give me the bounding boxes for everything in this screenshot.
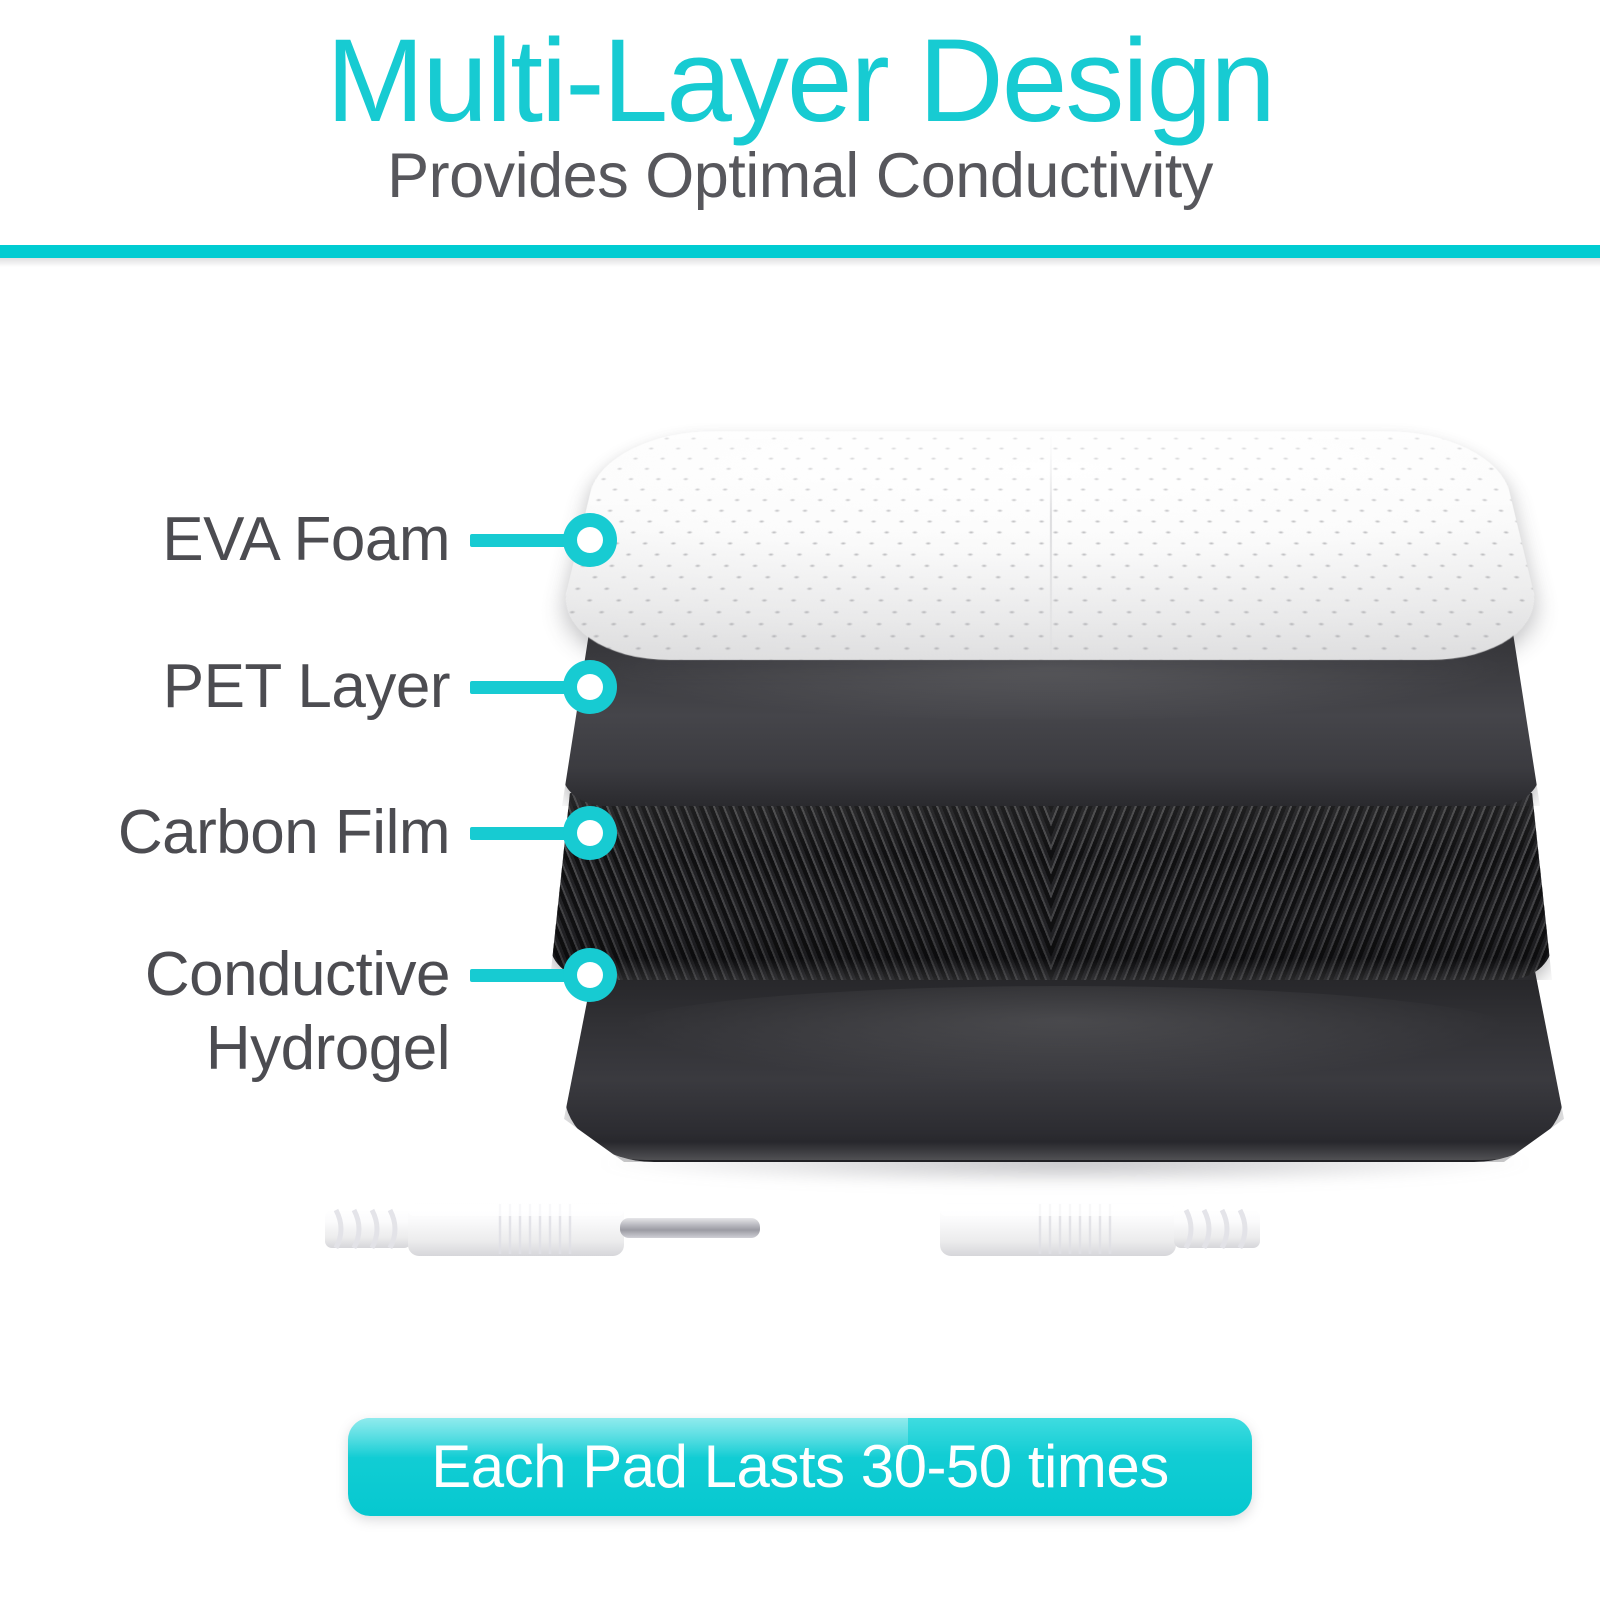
- callout-label-pet-layer: PET Layer: [60, 650, 450, 724]
- page-title: Multi-Layer Design: [0, 20, 1600, 144]
- bottom-banner: Each Pad Lasts 30-50 times: [348, 1418, 1252, 1516]
- hydrogel-highlight: [614, 986, 1514, 1084]
- leader-dot-carbon-film[interactable]: [563, 806, 617, 860]
- pad-stack-illustration: [520, 340, 1600, 1120]
- callout-label-conductive-hydrogel: Conductive Hydrogel: [40, 938, 450, 1086]
- layer-eva-foam: [550, 431, 1550, 660]
- leader-dot-eva-foam[interactable]: [563, 513, 617, 567]
- carbon-bottom-lip: [550, 958, 1552, 980]
- hydrogel-rim: [574, 1142, 1554, 1160]
- header: Multi-Layer Design Provides Optimal Cond…: [0, 0, 1600, 246]
- banner-text: Each Pad Lasts 30-50 times: [348, 1418, 1252, 1516]
- cable-connectors-group: [0, 1170, 1600, 1330]
- cable-right-lead: [940, 1202, 1600, 1256]
- page-subtitle: Provides Optimal Conductivity: [0, 143, 1600, 209]
- eva-foam-sheen: [550, 431, 1550, 660]
- callout-label-carbon-film: Carbon Film: [40, 796, 450, 870]
- header-divider-shadow: [0, 258, 1600, 267]
- callout-label-eva-foam: EVA Foam: [60, 503, 450, 577]
- leader-dot-conductive-hydrogel[interactable]: [563, 948, 617, 1002]
- header-divider: [0, 245, 1600, 258]
- cable-left-lead: [0, 1202, 760, 1256]
- carbon-shading: [550, 792, 1552, 980]
- metal-pin-tip: [620, 1218, 760, 1238]
- leader-dot-pet-layer[interactable]: [563, 660, 617, 714]
- layer-carbon-film: [550, 792, 1552, 980]
- layer-conductive-hydrogel: [564, 966, 1564, 1162]
